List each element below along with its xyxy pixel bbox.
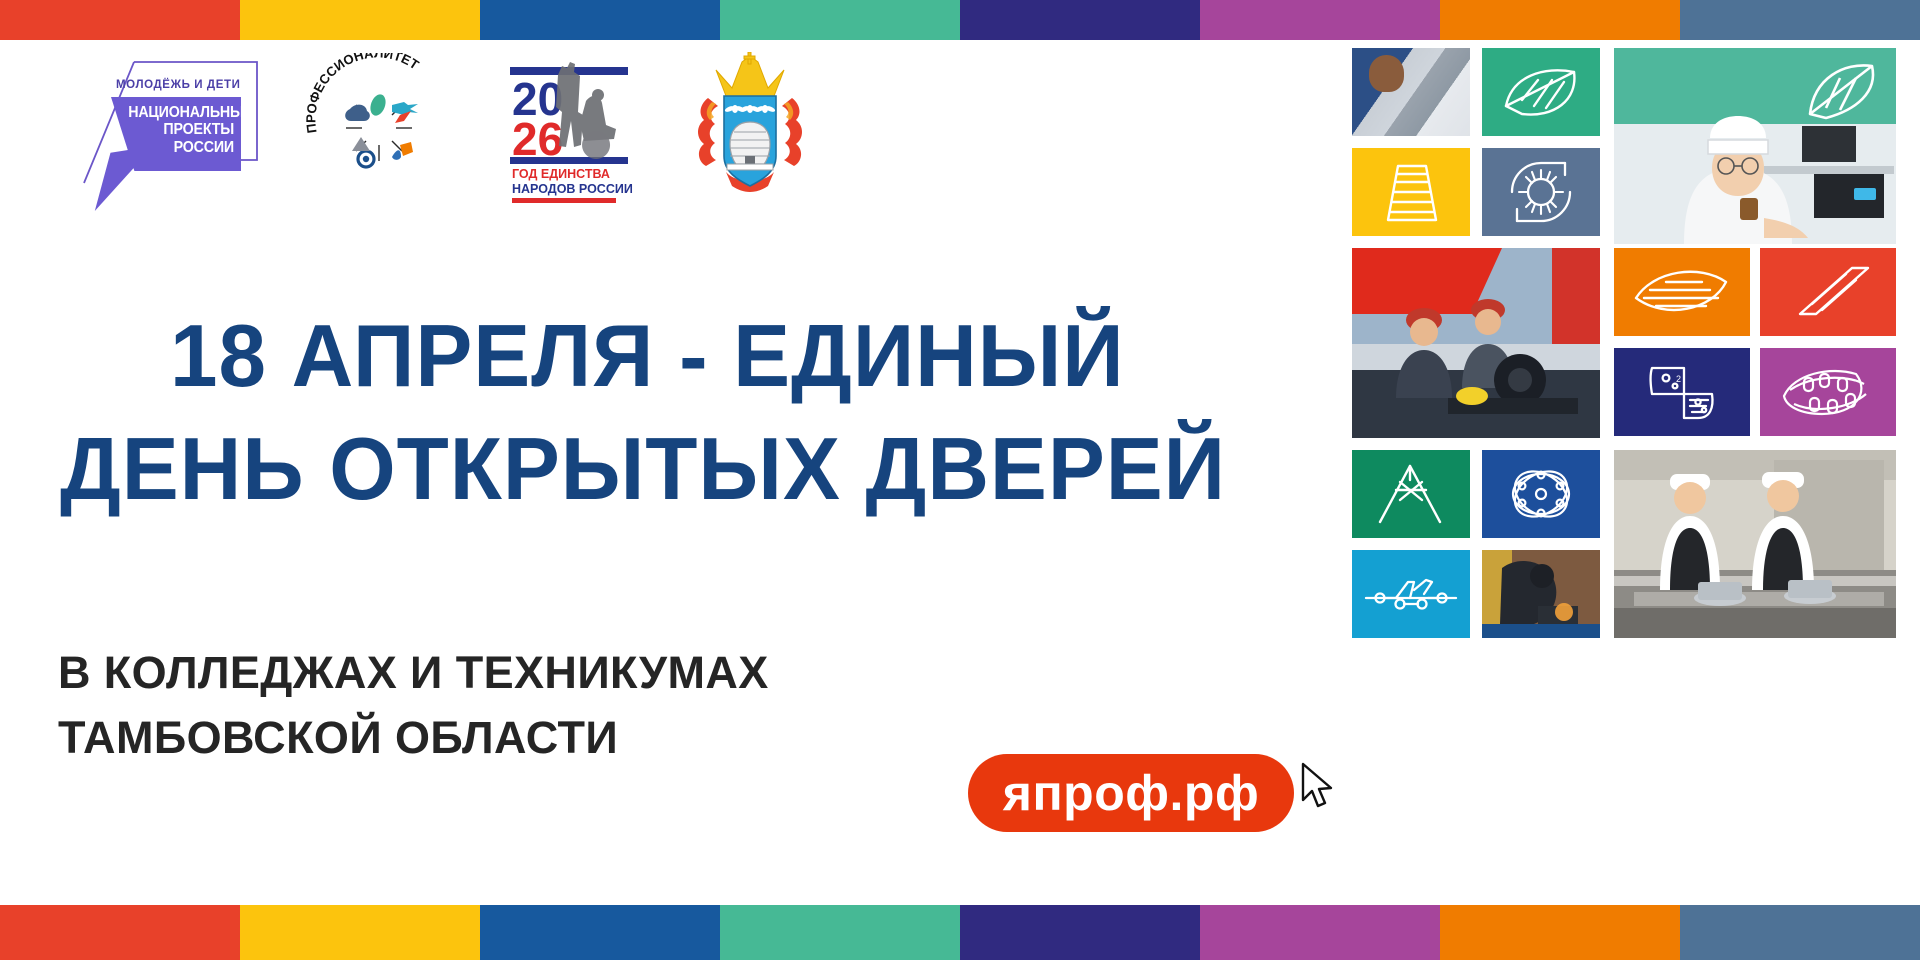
- stripe-band: [480, 0, 720, 40]
- stripe-band: [960, 0, 1200, 40]
- svg-text:ПРОФЕССИОНАЛИТЕТ: ПРОФЕССИОНАЛИТЕТ: [304, 53, 422, 134]
- leaf-icon: [1482, 48, 1600, 136]
- welder-photo-content-icon: [1482, 550, 1600, 638]
- atom-icon: [1482, 450, 1600, 538]
- stripe-band: [240, 0, 480, 40]
- chemistry-flask-icon: 2: [1614, 348, 1750, 436]
- stripe-band: [1680, 905, 1920, 960]
- headline-line-2: ДЕНЬ ОТКРЫТЫХ ДВЕРЕЙ: [60, 413, 1273, 526]
- tile-chemistry-flask-icon: 2: [1614, 348, 1750, 436]
- year-2026-caption-2: НАРОДОВ РОССИИ: [512, 182, 633, 196]
- stripe-band: [1200, 905, 1440, 960]
- tile-lab-technician-photo: [1614, 48, 1896, 244]
- headline-line-1: 18 АПРЕЛЯ - ЕДИНЫЙ: [170, 300, 1276, 413]
- poster-root: МОЛОДЁЖЬ И ДЕТИ НАЦИОНАЛЬНЫЕ ПРОЕКТЫ РОС…: [0, 0, 1920, 960]
- tractor-photo-content-icon: [1352, 248, 1600, 438]
- stripe-band: [1440, 905, 1680, 960]
- stripe-band: [480, 905, 720, 960]
- year-2026-logo: 20 26 ГОД ЕДИНСТВА НАРОДОВ РОССИИ: [500, 53, 640, 203]
- tile-road-lanes-icon: [1760, 248, 1896, 336]
- tile-student-at-lathe-photo: [1352, 48, 1470, 136]
- stripe-band: [1200, 0, 1440, 40]
- stripe-band: [240, 905, 480, 960]
- stripe-band: [0, 905, 240, 960]
- tambov-coat-of-arms: [686, 52, 814, 204]
- np-line-2: ПРОЕКТЫ: [128, 121, 234, 138]
- tile-gear-wheel-icon: [1482, 148, 1600, 236]
- np-line-3: РОССИИ: [128, 139, 234, 156]
- yaprof-website-button[interactable]: япроф.рф: [968, 754, 1294, 832]
- airplane-icon: [1352, 550, 1470, 638]
- year-2026-emblem-icon: 20 26 ГОД ЕДИНСТВА НАРОДОВ РОССИИ: [500, 53, 640, 203]
- coat-of-arms-icon: [686, 52, 814, 204]
- photo-icon-mosaic: 2: [1352, 48, 1896, 888]
- crane-tower-icon: [1352, 450, 1470, 538]
- np-line-1: НАЦИОНАЛЬНЫЕ: [128, 104, 234, 121]
- tile-airplane-icon: [1352, 550, 1470, 638]
- tile-leaf-icon: [1482, 48, 1600, 136]
- np-top-label: МОЛОДЁЖЬ И ДЕТИ: [116, 79, 240, 91]
- top-color-stripe: [0, 0, 1920, 40]
- subheadline-line-2: ТАМБОВСКОЙ ОБЛАСТИ: [58, 705, 1058, 770]
- logo-row: МОЛОДЁЖЬ И ДЕТИ НАЦИОНАЛЬНЫЕ ПРОЕКТЫ РОС…: [78, 48, 814, 208]
- tile-molecule-chain-icon: [1760, 348, 1896, 436]
- stripe-band: [1680, 0, 1920, 40]
- headline: 18 АПРЕЛЯ - ЕДИНЫЙ ДЕНЬ ОТКРЫТЫХ ДВЕРЕЙ: [170, 300, 1310, 525]
- stripe-band: [960, 905, 1200, 960]
- tile-thread-spool-icon: [1352, 148, 1470, 236]
- stripe-band: [720, 905, 960, 960]
- subheadline: В КОЛЛЕДЖАХ И ТЕХНИКУМАХ ТАМБОВСКОЙ ОБЛА…: [58, 640, 1058, 771]
- gear-wheel-icon: [1482, 148, 1600, 236]
- stripe-band: [0, 0, 240, 40]
- national-projects-logo: МОЛОДЁЖЬ И ДЕТИ НАЦИОНАЛЬНЫЕ ПРОЕКТЫ РОС…: [78, 53, 258, 203]
- svg-text:26: 26: [512, 113, 563, 165]
- grain-ear-icon: [1614, 248, 1750, 336]
- bottom-color-stripe: [0, 905, 1920, 960]
- tile-grain-ear-icon: [1614, 248, 1750, 336]
- svg-text:2: 2: [1676, 374, 1681, 384]
- stripe-band: [720, 0, 960, 40]
- lab-photo-content-icon: [1614, 48, 1896, 244]
- tile-atom-icon: [1482, 450, 1600, 538]
- road-lanes-icon: [1760, 248, 1896, 336]
- subheadline-line-1: В КОЛЛЕДЖАХ И ТЕХНИКУМАХ: [58, 640, 1058, 705]
- professionalitet-logo: ПРОФЕССИОНАЛИТЕТ: [304, 53, 454, 203]
- professionalitet-mark-icon: ПРОФЕССИОНАЛИТЕТ: [304, 53, 454, 203]
- kitchen-photo-content-icon: [1614, 450, 1896, 638]
- molecule-chain-icon: [1760, 348, 1896, 436]
- tile-welder-photo: [1482, 550, 1600, 638]
- tile-tractor-mechanics-photo: [1352, 248, 1600, 438]
- mouse-pointer-icon: [1300, 762, 1334, 810]
- tile-crane-tower-icon: [1352, 450, 1470, 538]
- year-2026-caption-1: ГОД ЕДИНСТВА: [512, 167, 610, 181]
- thread-spool-icon: [1352, 148, 1470, 236]
- stripe-band: [1440, 0, 1680, 40]
- tile-culinary-students-photo: [1614, 450, 1896, 638]
